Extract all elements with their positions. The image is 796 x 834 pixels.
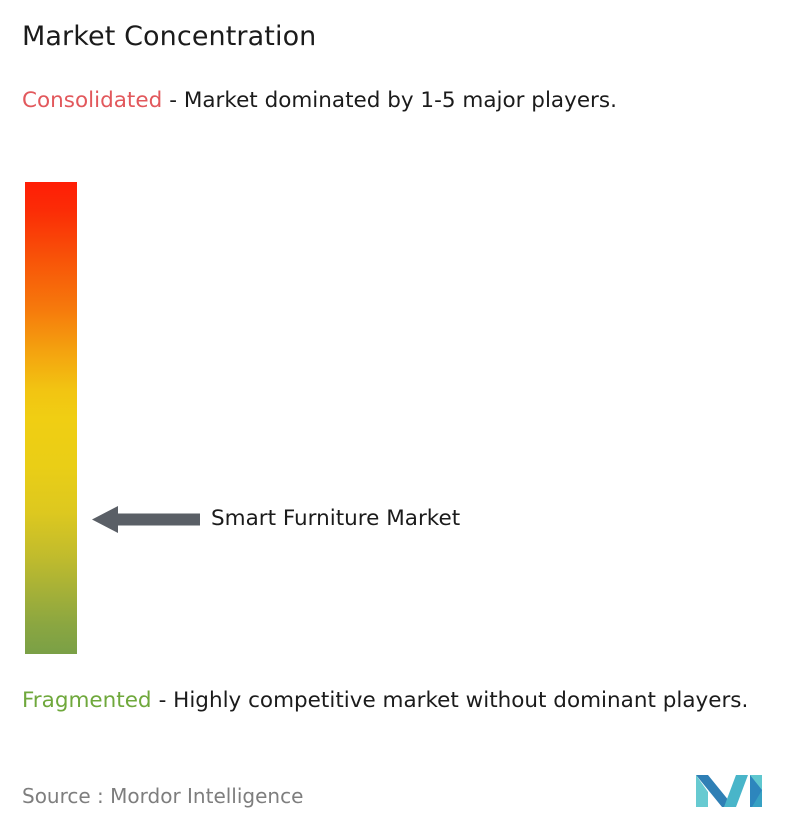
- left-arrow-icon: [92, 503, 200, 536]
- legend-description-consolidated: - Market dominated by 1-5 major players.: [169, 88, 617, 113]
- source-attribution: Source : Mordor Intelligence: [22, 783, 303, 809]
- legend-keyword-fragmented: Fragmented: [22, 688, 152, 713]
- mordor-intelligence-logo: [694, 770, 768, 812]
- legend-keyword-consolidated: Consolidated: [22, 88, 162, 113]
- mi-monogram-icon: [694, 770, 768, 812]
- market-pointer-label: Smart Furniture Market: [211, 504, 460, 534]
- legend-fragmented: Fragmented- Highly competitive market wi…: [22, 685, 784, 716]
- source-label: Source :: [22, 784, 104, 808]
- legend-consolidated: Consolidated- Market dominated by 1-5 ma…: [22, 85, 774, 116]
- market-pointer-arrow: [92, 503, 200, 536]
- page-title: Market Concentration: [22, 20, 316, 54]
- chart-canvas: Market Concentration Consolidated- Marke…: [0, 0, 796, 834]
- legend-description-fragmented: - Highly competitive market without domi…: [159, 688, 749, 713]
- source-value: Mordor Intelligence: [110, 784, 303, 808]
- concentration-gradient-bar: [25, 182, 77, 654]
